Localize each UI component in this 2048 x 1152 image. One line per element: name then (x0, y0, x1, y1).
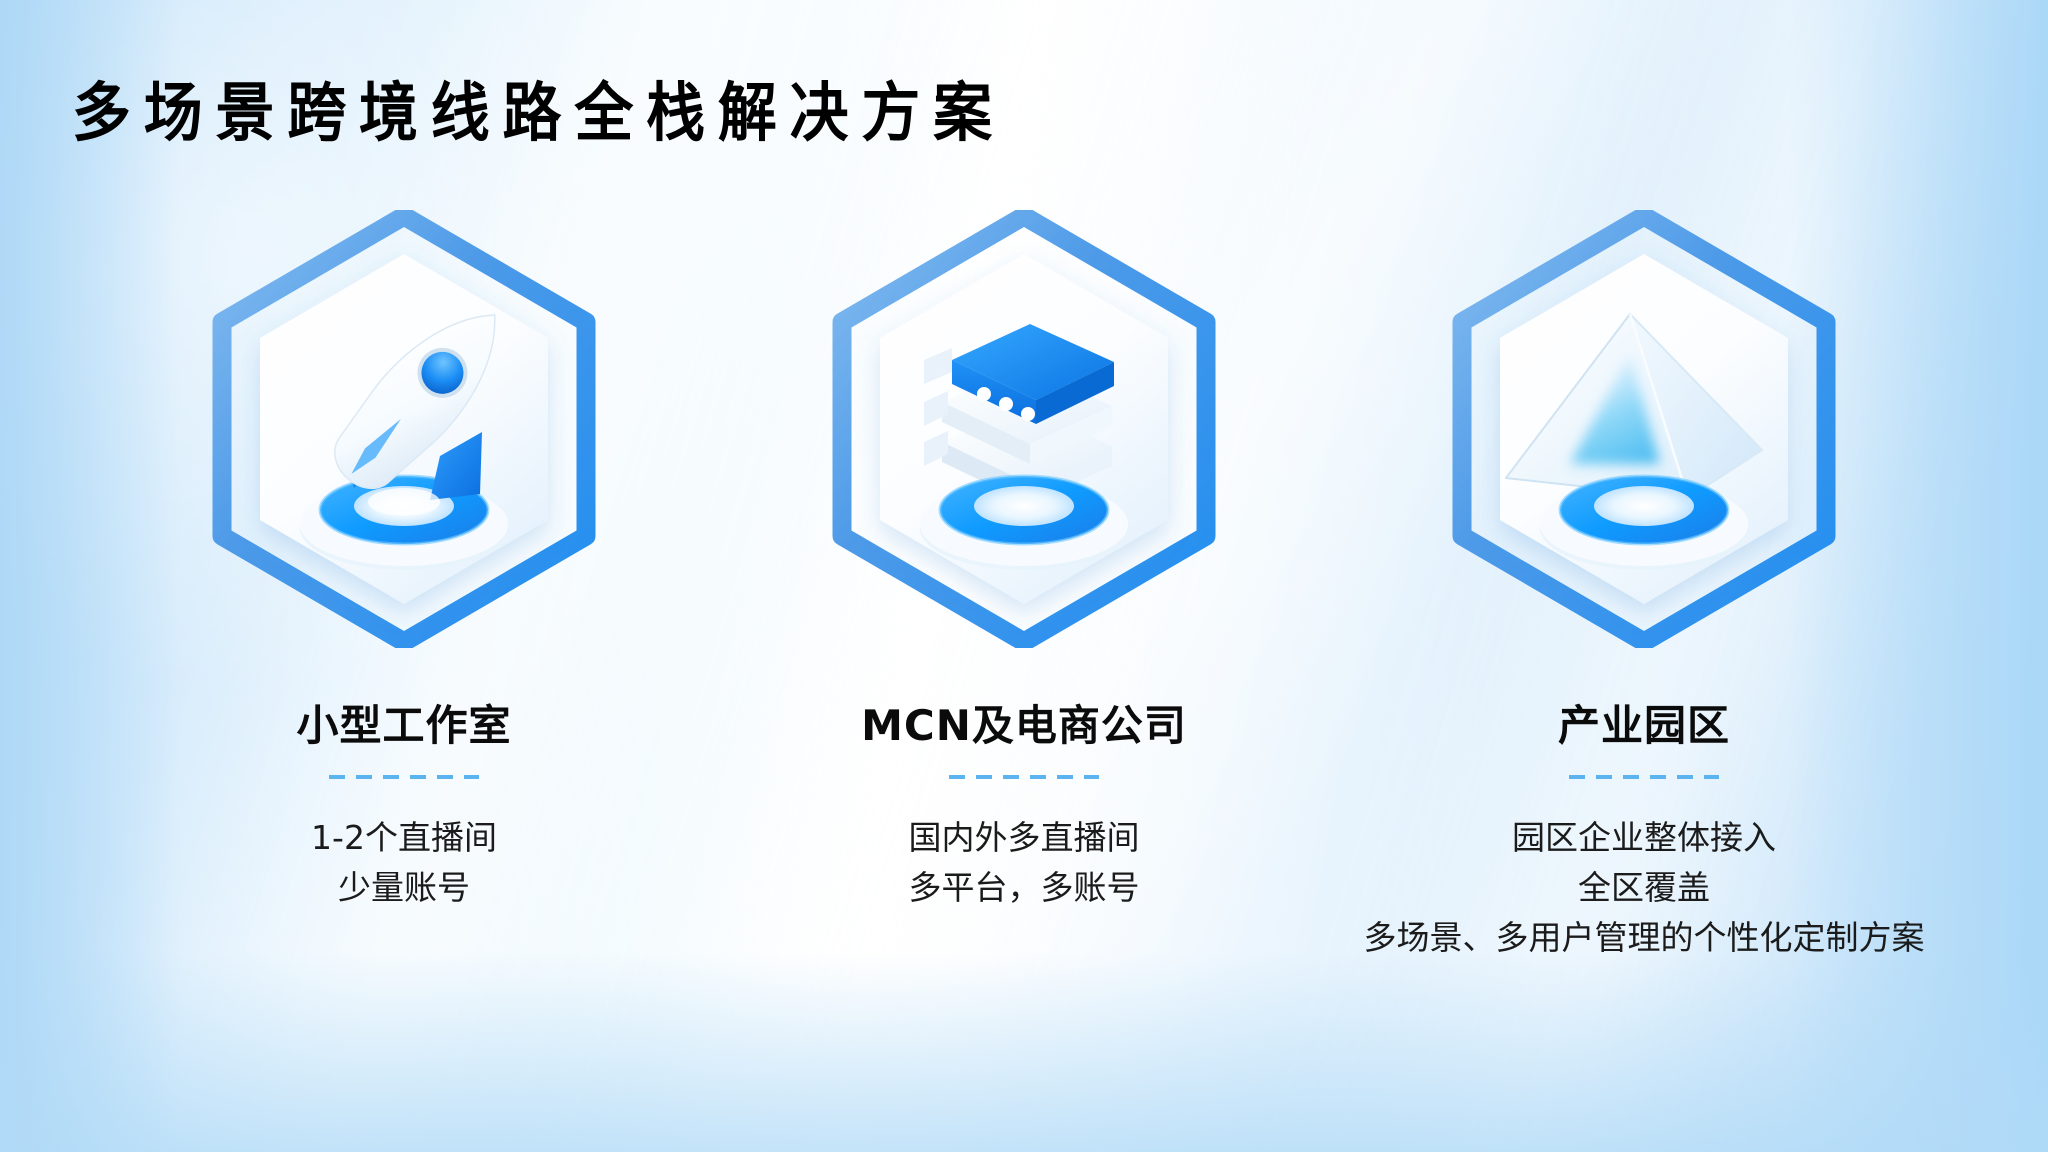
card-description-line: 园区企业整体接入 (1364, 813, 1925, 863)
card-description-line: 国内外多直播间 (909, 813, 1140, 863)
card-description-line: 少量账号 (311, 863, 497, 913)
solution-card[interactable]: MCN及电商公司 国内外多直播间 多平台，多账号 (724, 210, 1324, 913)
hexagon-icon-badge (1444, 210, 1844, 648)
card-description-line: 全区覆盖 (1364, 863, 1925, 913)
solution-card[interactable]: 产业园区 园区企业整体接入 全区覆盖 多场景、多用户管理的个性化定制方案 (1344, 210, 1944, 963)
card-divider (949, 775, 1099, 779)
card-description: 国内外多直播间 多平台，多账号 (909, 813, 1140, 913)
glass-pyramid-icon (1444, 210, 1844, 648)
card-description-line: 1-2个直播间 (311, 813, 497, 863)
card-description-line: 多平台，多账号 (909, 863, 1140, 913)
card-divider (329, 775, 479, 779)
solution-card[interactable]: 小型工作室 1-2个直播间 少量账号 (104, 210, 704, 913)
card-description-line: 多场景、多用户管理的个性化定制方案 (1364, 913, 1925, 963)
card-description: 园区企业整体接入 全区覆盖 多场景、多用户管理的个性化定制方案 (1364, 813, 1925, 963)
card-title: MCN及电商公司 (861, 692, 1187, 753)
card-divider (1569, 775, 1719, 779)
page-title: 多场景跨境线路全栈解决方案 (72, 62, 1005, 154)
server-stack-icon (824, 210, 1224, 648)
hexagon-icon-badge (204, 210, 604, 648)
solution-card-list: 小型工作室 1-2个直播间 少量账号 (0, 210, 2048, 963)
card-description: 1-2个直播间 少量账号 (311, 813, 497, 913)
hexagon-icon-badge (824, 210, 1224, 648)
rocket-icon (204, 210, 604, 648)
card-title: 小型工作室 (296, 692, 511, 753)
card-title: 产业园区 (1558, 692, 1730, 753)
